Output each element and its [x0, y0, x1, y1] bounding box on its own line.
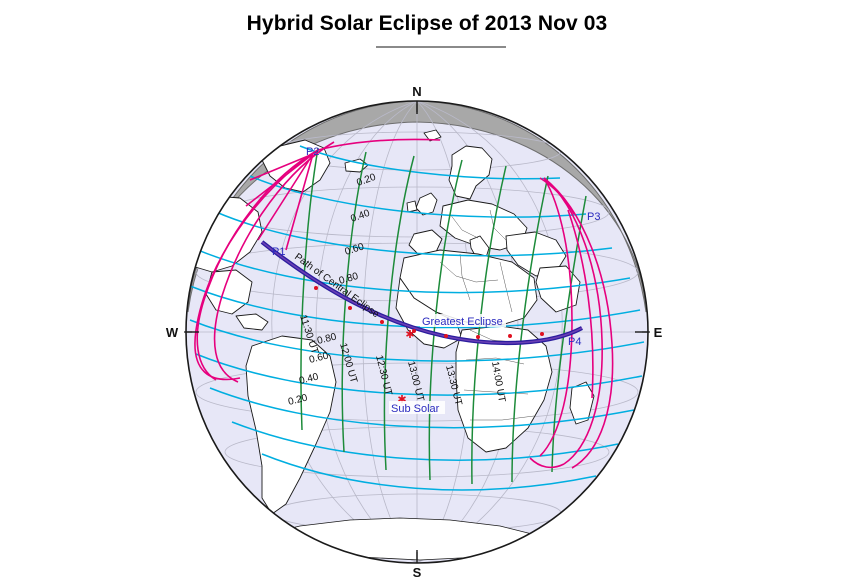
cardinal-label-south: S	[413, 565, 422, 580]
sub-solar-label: Sub Solar	[391, 403, 440, 415]
contact-point-label-p4: P4	[568, 336, 581, 348]
greatest-eclipse-label: Greatest Eclipse	[422, 316, 503, 328]
cardinal-label-north: N	[412, 84, 421, 99]
cardinal-label-east: E	[654, 325, 663, 340]
contact-point-label-p2: P2	[306, 146, 319, 158]
eclipse-globe-map: N W E S P1 P2 P3 P4 Greatest Eclipse Sub…	[0, 0, 854, 585]
contact-point-label-p3: P3	[587, 211, 600, 223]
cardinal-label-west: W	[166, 325, 179, 340]
contact-point-label-p1: P1	[272, 246, 285, 258]
